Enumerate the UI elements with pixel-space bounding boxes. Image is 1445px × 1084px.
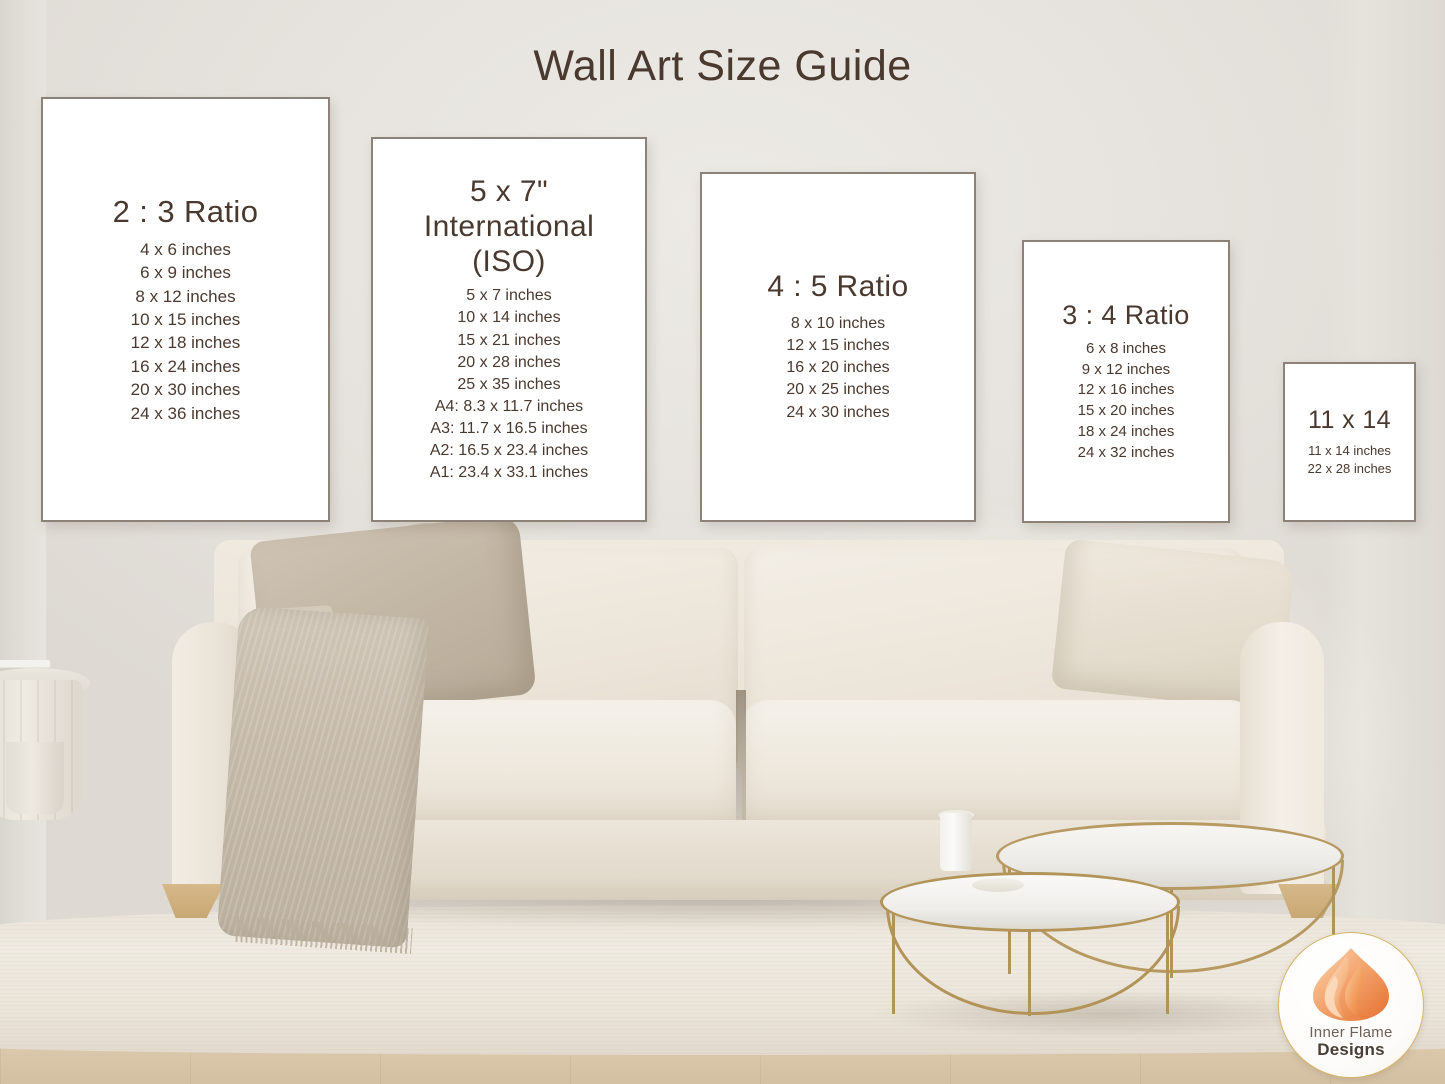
frame-content: 11 x 14 11 x 14 inches 22 x 28 inches [1293,406,1406,478]
list-item: 20 x 28 inches [430,352,588,374]
sofa-seat-cushion-right [742,700,1256,830]
size-list-11-x-14: 11 x 14 inches 22 x 28 inches [1308,442,1392,478]
list-item: A2: 16.5 x 23.4 inches [430,440,588,462]
list-item: 24 x 36 inches [131,402,241,425]
list-item: 24 x 32 inches [1078,443,1175,464]
list-item: 11 x 14 inches [1308,442,1392,460]
list-item: 9 x 12 inches [1078,360,1175,381]
list-item: A1: 23.4 x 33.1 inches [430,462,588,484]
list-item: 6 x 8 inches [1078,339,1175,360]
throw-blanket [217,606,430,948]
list-item: 16 x 20 inches [786,357,889,379]
brand-logo-badge[interactable]: Inner Flame Designs [1278,932,1424,1078]
list-item: 20 x 30 inches [131,378,241,401]
list-item: 6 x 9 inches [131,261,241,284]
list-item: 5 x 7 inches [430,285,588,307]
frame-title-11-x-14: 11 x 14 [1308,406,1391,435]
size-frame-ratio-4-5[interactable]: 4 : 5 Ratio 8 x 10 inches 12 x 15 inches… [700,172,976,522]
list-item: 16 x 24 inches [131,355,241,378]
size-list-ratio-3-4: 6 x 8 inches 9 x 12 inches 12 x 16 inche… [1078,339,1175,463]
frame-title-ratio-2-3: 2 : 3 Ratio [113,194,259,230]
list-item: 12 x 15 inches [786,335,889,357]
list-item: 24 x 30 inches [786,402,889,424]
size-list-ratio-4-5: 8 x 10 inches 12 x 15 inches 16 x 20 inc… [786,313,889,423]
side-table-base [6,742,64,814]
size-list-iso-5-x-7: 5 x 7 inches 10 x 14 inches 15 x 21 inch… [430,285,588,484]
small-table-leg-1 [892,902,895,1014]
list-item: A3: 11.7 x 16.5 inches [430,418,588,440]
flame-icon [1309,946,1393,1022]
list-item: 20 x 25 inches [786,379,889,401]
list-item: A4: 8.3 x 11.7 inches [430,396,588,418]
sofa-cushion-gap [736,690,746,840]
size-list-ratio-2-3: 4 x 6 inches 6 x 9 inches 8 x 12 inches … [131,238,241,426]
frame-content: 4 : 5 Ratio 8 x 10 inches 12 x 15 inches… [710,270,966,423]
ceramic-vase [940,813,972,871]
frame-title-ratio-3-4: 3 : 4 Ratio [1062,300,1189,331]
list-item: 12 x 18 inches [131,331,241,354]
list-item: 10 x 14 inches [430,307,588,329]
list-item: 15 x 20 inches [1078,401,1175,422]
small-table-leg-3 [1166,902,1169,1014]
page-title: Wall Art Size Guide [0,42,1445,91]
frame-content: 3 : 4 Ratio 6 x 8 inches 9 x 12 inches 1… [1032,300,1220,463]
brand-name-line-2: Designs [1317,1040,1385,1060]
list-item: 8 x 10 inches [786,313,889,335]
brand-name-line-1: Inner Flame [1309,1024,1392,1041]
list-item: 15 x 21 inches [430,330,588,352]
small-coffee-table-top [880,872,1180,932]
size-frame-11-x-14[interactable]: 11 x 14 11 x 14 inches 22 x 28 inches [1283,362,1416,522]
list-item: 22 x 28 inches [1308,460,1392,478]
wall-art-size-guide-poster: Wall Art Size Guide 2 : 3 Ratio 4 x 6 in… [0,0,1445,1084]
list-item: 8 x 12 inches [131,285,241,308]
size-frame-iso-5-x-7[interactable]: 5 x 7" International (ISO) 5 x 7 inches … [371,137,647,522]
list-item: 4 x 6 inches [131,238,241,261]
frame-content: 5 x 7" International (ISO) 5 x 7 inches … [381,175,637,484]
size-frame-ratio-2-3[interactable]: 2 : 3 Ratio 4 x 6 inches 6 x 9 inches 8 … [41,97,330,522]
list-item: 18 x 24 inches [1078,422,1175,443]
frame-content: 2 : 3 Ratio 4 x 6 inches 6 x 9 inches 8 … [51,194,320,426]
size-frame-ratio-3-4[interactable]: 3 : 4 Ratio 6 x 8 inches 9 x 12 inches 1… [1022,240,1230,523]
frame-title-iso-5-x-7: 5 x 7" International (ISO) [424,175,594,279]
list-item: 12 x 16 inches [1078,380,1175,401]
frame-title-ratio-4-5: 4 : 5 Ratio [767,270,908,305]
decor-tray [972,878,1024,892]
list-item: 25 x 35 inches [430,374,588,396]
list-item: 10 x 15 inches [131,308,241,331]
